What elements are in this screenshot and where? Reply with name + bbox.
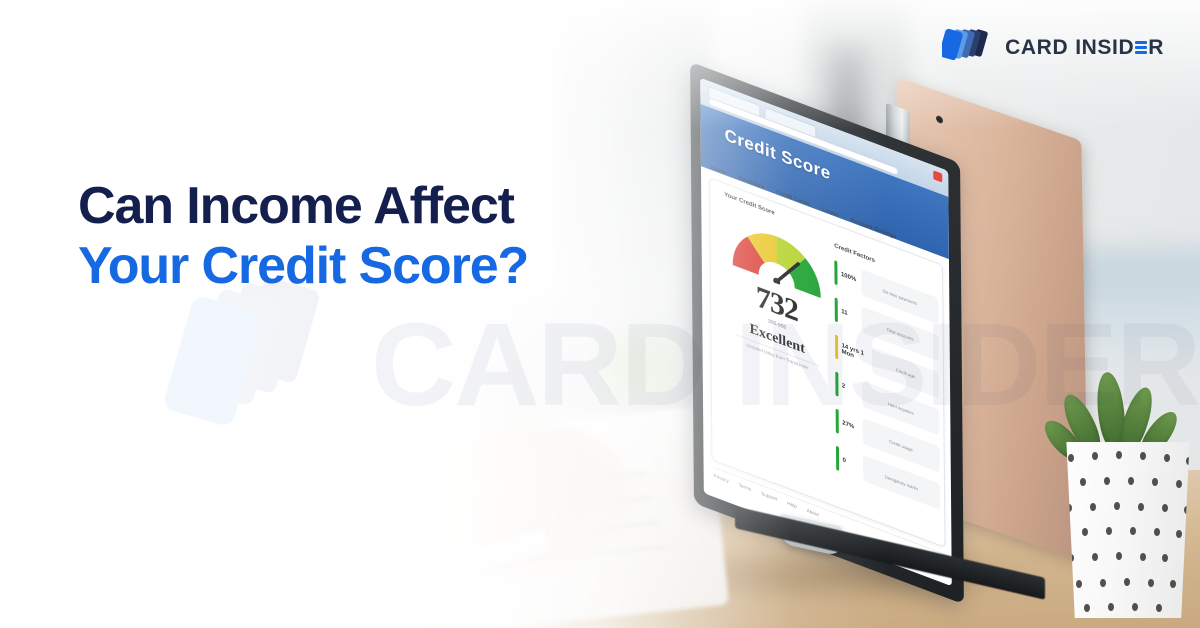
poster-canvas: Credit Score Home Providers Credit Cards… [0, 0, 1200, 628]
card-stack-icon [942, 28, 994, 67]
brand-name-insid: INSID [1075, 36, 1134, 60]
brand-name-r: R [1148, 36, 1164, 60]
headline: Can Income Affect Your Credit Score? [78, 176, 718, 297]
headline-line-2: Your Credit Score? [78, 236, 718, 296]
brand-name-card: CARD [1005, 36, 1068, 60]
stylized-e-icon [1135, 41, 1147, 54]
brand-logo[interactable]: CARD INSID R [942, 28, 1164, 67]
brand-name: CARD INSID R [1005, 36, 1164, 60]
headline-line-1: Can Income Affect [78, 176, 718, 236]
